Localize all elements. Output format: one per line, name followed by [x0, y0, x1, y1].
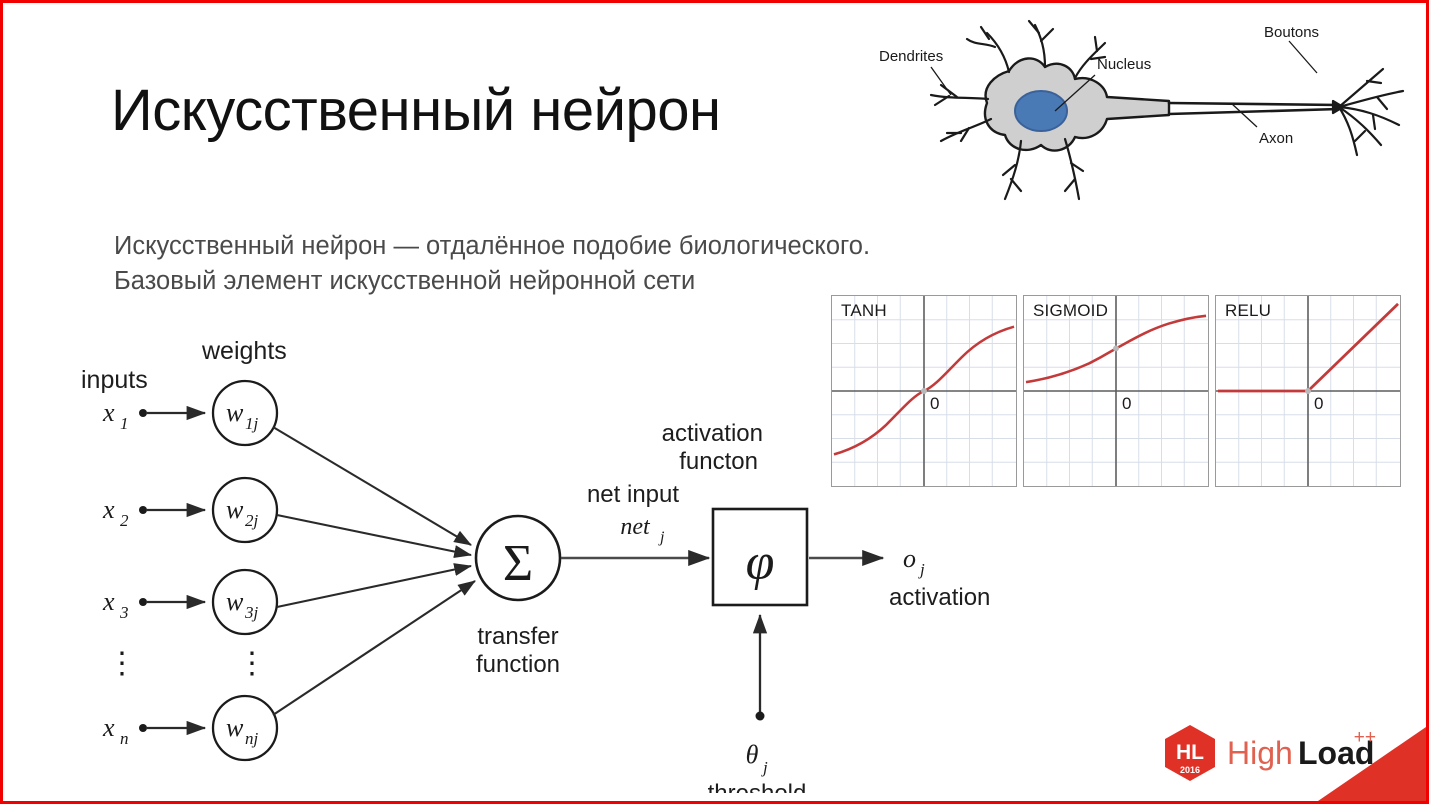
weight-node-3 [213, 570, 277, 634]
weight-label-wnj: w [226, 713, 244, 742]
bio-label-boutons: Boutons [1264, 24, 1319, 41]
phi-symbol: φ [746, 534, 775, 591]
page-title: Искусственный нейрон [111, 81, 721, 142]
weight-node-1 [213, 381, 277, 445]
input-dot-1 [139, 409, 147, 417]
corner-accent-triangle [1318, 727, 1426, 801]
output-symbol: o [903, 544, 916, 573]
input-sub-x1: 1 [120, 414, 129, 433]
output-subscript: j [918, 560, 925, 579]
weight-label-w1j: w [226, 398, 244, 427]
weight-sub-w3j: 3j [244, 603, 259, 622]
threshold-dot [756, 712, 765, 721]
input-label-x2: x [102, 495, 115, 524]
input-row-3: x 3 w 3j [102, 570, 277, 634]
input-label-x3: x [102, 587, 115, 616]
inputs-heading: inputs [81, 366, 148, 394]
output-label: activation [889, 584, 990, 611]
logo-badge-text: HL [1176, 741, 1204, 764]
summation-symbol: Σ [503, 535, 533, 592]
biological-neuron-illustration: Dendrites Nucleus Axon Boutons [869, 15, 1425, 207]
artificial-neuron-diagram: inputs weights x 1 w 1j x 2 w 2j [63, 323, 1053, 793]
input-dot-n [139, 724, 147, 732]
chart-title-relu: RELU [1225, 301, 1271, 321]
bio-label-dendrites: Dendrites [879, 48, 943, 65]
chart-title-tanh: TANH [841, 301, 887, 321]
activation-function-label-line1: activation [662, 420, 763, 447]
input-label-x1: x [102, 398, 115, 427]
input-row-n: x n w nj [102, 696, 277, 760]
chart-zero-label-relu: 0 [1314, 394, 1323, 414]
input-dot-3 [139, 598, 147, 606]
weights-heading: weights [201, 337, 287, 365]
net-input-label: net input [587, 481, 679, 508]
bio-label-nucleus: Nucleus [1097, 56, 1151, 73]
chart-panel-relu: RELU 0 [1215, 295, 1401, 487]
chart-title-sigmoid: SIGMOID [1033, 301, 1108, 321]
input-dot-2 [139, 506, 147, 514]
net-input-symbol: net [620, 514, 651, 540]
activation-function-label-line2: functon [679, 448, 758, 475]
weight-label-w2j: w [226, 495, 244, 524]
bio-label-axon: Axon [1259, 130, 1293, 147]
transfer-function-label-line1: transfer [477, 623, 558, 650]
input-sub-x3: 3 [119, 603, 129, 622]
chart-zero-label-sigmoid: 0 [1122, 394, 1131, 414]
weight-label-w3j: w [226, 587, 244, 616]
input-row-2: x 2 w 2j [102, 478, 277, 542]
transfer-function-label-line2: function [476, 651, 560, 678]
weight-ellipsis: ⋮ [237, 647, 267, 680]
input-label-xn: x [102, 713, 115, 742]
logo-word-high: High [1227, 735, 1293, 771]
slide-canvas: Искусственный нейрон Искусственный нейро… [0, 0, 1429, 804]
weight-sub-w2j: 2j [245, 511, 259, 530]
weight-node-n [213, 696, 277, 760]
input-sub-x2: 2 [120, 511, 129, 530]
threshold-symbol: θ [746, 740, 759, 769]
subtitle-text: Искусственный нейрон — отдалённое подоби… [114, 229, 924, 298]
logo-badge-year: 2016 [1180, 765, 1200, 775]
weight-sub-wnj: nj [245, 729, 259, 748]
input-ellipsis: ⋮ [107, 647, 137, 680]
input-sub-xn: n [120, 729, 129, 748]
weight-sub-w1j: 1j [245, 414, 259, 433]
threshold-label: threshold [708, 780, 807, 793]
threshold-subscript: j [761, 758, 768, 777]
nucleus-shape [1015, 91, 1067, 131]
weight-node-2 [213, 478, 277, 542]
net-input-subscript: j [658, 529, 665, 546]
